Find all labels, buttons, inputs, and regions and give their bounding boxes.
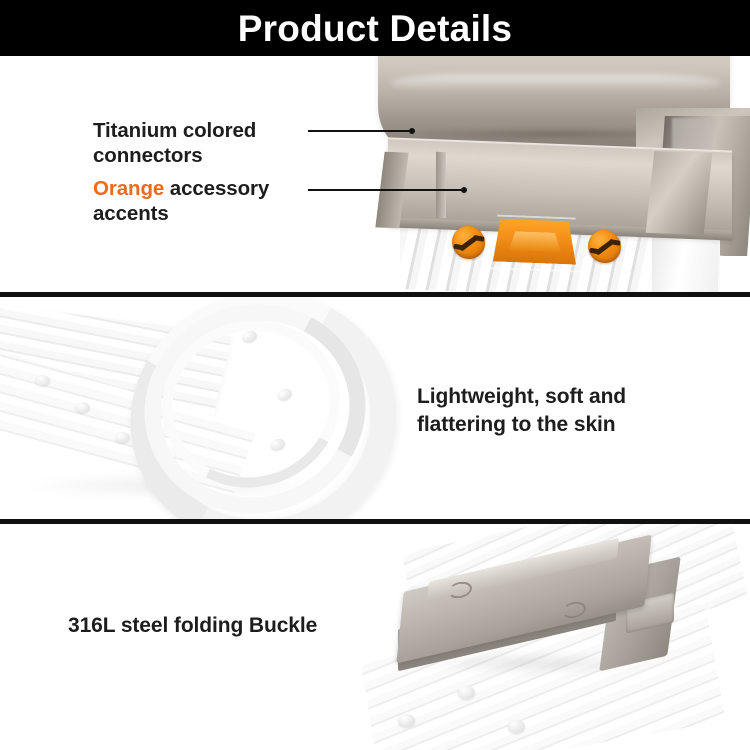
section-divider-2 [0, 519, 750, 524]
silicone-band-right-panel [652, 233, 718, 292]
lightweight-callout: Lightweight, soft and flattering to the … [417, 383, 626, 439]
leader-dot-orange [461, 187, 467, 193]
band-stud [458, 686, 475, 699]
band-stud [75, 402, 90, 413]
orange-screw-right-icon [588, 229, 621, 263]
screw-slot-tertiary [609, 238, 621, 245]
connector-section [0, 56, 750, 292]
leader-line-orange [308, 189, 464, 191]
orange-accent-word: Orange [93, 177, 164, 200]
titanium-callout-line-2: connectors [93, 143, 256, 168]
connector-right-block [646, 151, 713, 235]
orange-center-plate-ring [489, 214, 584, 273]
band-stud [508, 720, 525, 733]
coiled-band-photo [0, 297, 400, 519]
watch-case-highlight [390, 74, 720, 92]
band-stud [115, 432, 130, 443]
orange-callout-rest: accessory [164, 177, 269, 200]
connector-notch [436, 152, 446, 218]
page-title: Product Details [238, 10, 512, 47]
lightweight-callout-line-1: Lightweight, soft and [417, 383, 626, 411]
section-divider-1 [0, 292, 750, 297]
watch-connector-photo [0, 56, 750, 292]
comfort-section [0, 297, 750, 519]
product-details-page: Product Details [0, 0, 750, 750]
leader-dot-titanium [409, 128, 415, 134]
orange-callout-line-2: accents [93, 201, 269, 226]
buckle-callout: 316L steel folding Buckle [68, 613, 317, 638]
titanium-callout: Titanium colored connectors [93, 118, 256, 168]
orange-callout-line-1: Orange accessory [93, 176, 269, 201]
band-stud [35, 375, 50, 386]
band-stud [398, 714, 415, 727]
screw-slot-tertiary [473, 234, 485, 241]
steel-buckle-photo [390, 524, 750, 750]
buckle-callout-line-1: 316L steel folding Buckle [68, 613, 317, 638]
header-banner: Product Details [0, 0, 750, 56]
orange-screw-left-icon [452, 225, 485, 259]
orange-callout: Orange accessory accents [93, 176, 269, 226]
lightweight-callout-line-2: flattering to the skin [417, 411, 626, 439]
titanium-callout-line-1: Titanium colored [93, 118, 256, 143]
leader-line-titanium [308, 130, 412, 132]
